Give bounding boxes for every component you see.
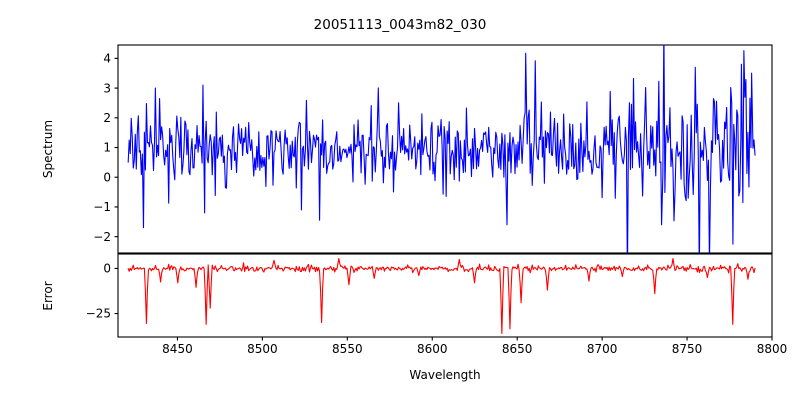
spectrum-y-tick-label: 4 [103,52,111,66]
x-tick-label: 8500 [247,342,278,356]
x-tick-label: 8550 [332,342,363,356]
figure-title: 20051113_0043m82_030 [314,17,487,33]
spectrum-y-tick-label: 1 [103,141,111,155]
x-tick-label: 8750 [672,342,703,356]
spectrum-y-tick-label: −2 [93,230,111,244]
x-tick-label: 8700 [587,342,618,356]
spectrum-y-tick-label: 2 [103,111,111,125]
spectrum-y-tick-label: 0 [103,170,111,184]
matplotlib-figure: 20051113_0043m82_030 43210−1−2 Spectrum … [0,0,800,400]
x-tick-label: 8800 [757,342,788,356]
x-tick-label: 8600 [417,342,448,356]
x-tick-label: 8450 [162,342,193,356]
error-y-tick-label: −25 [86,307,111,321]
x-tick-label: 8650 [502,342,533,356]
error-y-tick-label: 0 [103,262,111,276]
figure-background [0,0,800,400]
x-axis-label: Wavelength [409,368,480,382]
spectrum-figure-canvas: 20051113_0043m82_030 43210−1−2 Spectrum … [0,0,800,400]
spectrum-y-axis-label: Spectrum [41,120,55,178]
spectrum-y-tick-label: −1 [93,200,111,214]
spectrum-y-tick-label: 3 [103,81,111,95]
error-y-axis-label: Error [41,281,55,310]
